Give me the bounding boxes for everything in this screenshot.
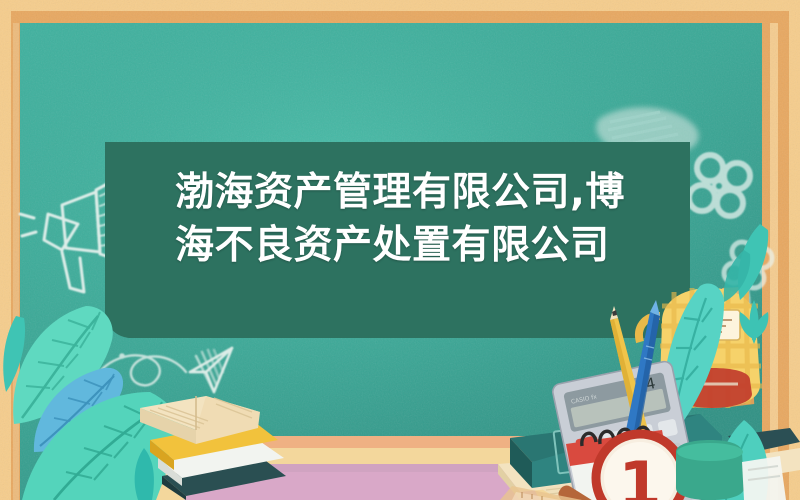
banner-image: 渤海资产管理有限公司,博 海不良资产处置有限公司	[0, 0, 800, 500]
accent-layer	[0, 0, 800, 500]
